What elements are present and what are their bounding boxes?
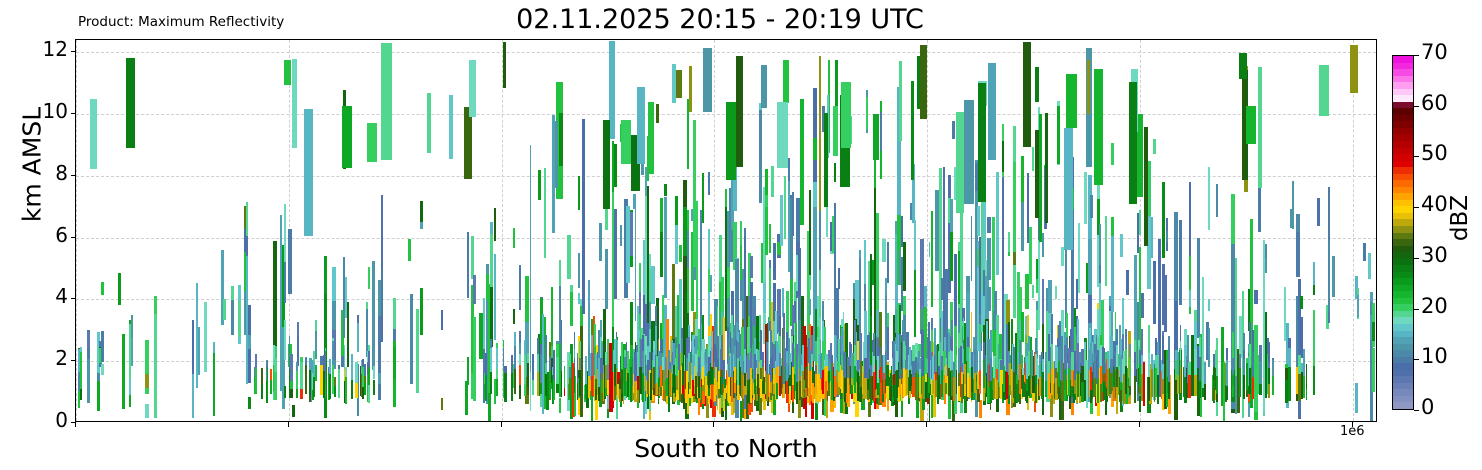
colorbar-band: [1393, 395, 1413, 402]
reflectivity-segment: [90, 99, 98, 169]
reflectivity-column: [274, 39, 276, 421]
reflectivity-segment: [511, 355, 513, 372]
reflectivity-segment: [1157, 355, 1159, 376]
reflectivity-column: [479, 39, 483, 421]
colorbar-band: [1393, 356, 1413, 363]
reflectivity-segment: [496, 379, 499, 395]
reflectivity-column: [1168, 39, 1170, 421]
reflectivity-segment: [1087, 60, 1090, 114]
colorbar-band: [1393, 264, 1413, 271]
reflectivity-column: [1258, 39, 1262, 421]
colorbar-band: [1393, 258, 1413, 265]
reflectivity-column: [1042, 39, 1044, 421]
reflectivity-segment: [1258, 67, 1262, 188]
reflectivity-segment: [1313, 361, 1316, 367]
reflectivity-column: [320, 39, 322, 421]
reflectivity-segment: [1061, 381, 1063, 394]
reflectivity-segment: [569, 367, 571, 378]
reflectivity-column: [1363, 39, 1366, 421]
colorbar-band: [1393, 94, 1413, 101]
reflectivity-segment: [672, 64, 675, 103]
x-tick-mark: [501, 422, 502, 427]
reflectivity-segment: [552, 115, 554, 234]
reflectivity-segment: [514, 369, 516, 394]
reflectivity-segment: [527, 353, 529, 363]
reflectivity-column: [1332, 39, 1336, 421]
reflectivity-segment: [1272, 359, 1274, 375]
reflectivity-column: [609, 39, 615, 421]
reflectivity-segment: [267, 367, 268, 396]
reflectivity-segment: [490, 348, 492, 372]
reflectivity-segment: [532, 354, 534, 380]
y-tick-label: 4: [55, 284, 68, 308]
y-tick-label: 8: [55, 161, 68, 185]
reflectivity-segment: [496, 343, 499, 348]
reflectivity-segment: [911, 81, 915, 181]
reflectivity-segment: [1239, 53, 1246, 79]
reflectivity-segment: [261, 384, 262, 399]
reflectivity-segment: [920, 45, 927, 119]
reflectivity-segment: [1162, 379, 1164, 394]
reflectivity-segment: [1204, 384, 1206, 400]
reflectivity-column: [154, 39, 157, 421]
reflectivity-segment: [1268, 361, 1270, 369]
reflectivity-segment: [1232, 385, 1234, 398]
reflectivity-column: [213, 39, 216, 421]
reflectivity-segment: [559, 113, 562, 165]
reflectivity-segment: [524, 342, 526, 355]
y-tick-label: 6: [55, 223, 68, 247]
reflectivity-segment: [325, 348, 326, 351]
reflectivity-segment: [364, 376, 366, 383]
reflectivity-column: [964, 39, 974, 421]
reflectivity-segment: [1162, 331, 1164, 335]
reflectivity-segment: [248, 397, 251, 409]
reflectivity-segment: [364, 364, 366, 376]
reflectivity-segment: [978, 83, 986, 202]
reflectivity-segment: [935, 372, 937, 381]
reflectivity-segment: [496, 368, 499, 379]
reflectivity-column: [1199, 39, 1201, 421]
reflectivity-segment: [549, 370, 551, 398]
colorbar-tick-mark: [1414, 156, 1419, 157]
reflectivity-column: [1372, 39, 1375, 421]
reflectivity-segment: [255, 354, 257, 369]
colorbar-band: [1393, 304, 1413, 311]
reflectivity-column: [342, 39, 353, 421]
reflectivity-segment: [469, 60, 476, 117]
reflectivity-segment: [503, 42, 505, 88]
reflectivity-column: [1188, 39, 1190, 421]
x-tick-mark: [1139, 422, 1140, 427]
reflectivity-segment: [1268, 368, 1270, 383]
colorbar-band: [1393, 389, 1413, 396]
y-tick-mark: [71, 237, 75, 238]
reflectivity-column: [1013, 39, 1014, 421]
reflectivity-column: [1125, 39, 1127, 421]
reflectivity-column: [524, 39, 526, 421]
colorbar-band: [1393, 245, 1413, 252]
reflectivity-segment: [514, 346, 516, 369]
reflectivity-segment: [420, 201, 422, 223]
reflectivity-segment: [1045, 113, 1048, 223]
reflectivity-segment: [537, 338, 539, 353]
reflectivity-column: [585, 39, 586, 421]
colorbar-band: [1393, 62, 1413, 69]
colorbar-band: [1393, 199, 1413, 206]
reflectivity-column: [496, 39, 499, 421]
reflectivity-column: [1268, 39, 1270, 421]
y-tick-mark: [71, 298, 75, 299]
reflectivity-column: [956, 39, 964, 421]
reflectivity-segment: [248, 335, 251, 350]
x-tick-mark: [926, 422, 927, 427]
reflectivity-segment: [1180, 360, 1181, 368]
reflectivity-column: [1313, 39, 1316, 421]
reflectivity-segment: [519, 385, 522, 400]
reflectivity-segment: [1180, 367, 1181, 393]
reflectivity-segment: [833, 106, 838, 156]
colorbar-tick-label: 40: [1421, 192, 1448, 216]
colorbar-band: [1393, 55, 1413, 62]
reflectivity-segment: [800, 99, 804, 225]
reflectivity-segment: [1137, 114, 1143, 197]
reflectivity-segment: [1296, 340, 1298, 367]
reflectivity-column: [672, 39, 675, 421]
reflectivity-segment: [953, 377, 955, 401]
reflectivity-column: [355, 39, 357, 421]
reflectivity-segment: [621, 120, 631, 164]
reflectivity-segment: [1148, 325, 1150, 353]
reflectivity-segment: [1313, 366, 1316, 394]
reflectivity-segment: [410, 294, 413, 384]
reflectivity-column: [761, 39, 767, 421]
reflectivity-column: [364, 39, 366, 421]
reflectivity-segment: [329, 359, 331, 373]
reflectivity-segment: [1268, 342, 1270, 360]
colorbar-band: [1393, 310, 1413, 317]
reflectivity-column: [648, 39, 654, 421]
reflectivity-column: [145, 39, 148, 421]
reflectivity-segment: [1039, 114, 1042, 242]
y-tick-mark: [71, 113, 75, 114]
reflectivity-column: [90, 39, 98, 421]
reflectivity-segment: [490, 339, 492, 348]
colorbar-tick-mark: [1414, 55, 1419, 56]
colorbar-band: [1393, 232, 1413, 239]
colorbar-band: [1393, 160, 1413, 167]
reflectivity-segment: [1162, 335, 1164, 364]
reflectivity-segment: [364, 383, 366, 395]
reflectivity-segment: [334, 377, 336, 386]
reflectivity-segment: [1042, 372, 1044, 395]
reflectivity-segment: [726, 102, 736, 180]
reflectivity-segment: [1151, 369, 1153, 397]
reflectivity-column: [1319, 39, 1329, 421]
reflectivity-column: [1180, 39, 1181, 421]
reflectivity-segment: [540, 383, 542, 393]
reflectivity-segment: [1288, 367, 1290, 391]
reflectivity-segment: [899, 61, 902, 141]
reflectivity-segment: [585, 356, 586, 385]
reflectivity-segment: [1162, 364, 1164, 378]
reflectivity-segment: [1288, 348, 1290, 366]
reflectivity-segment: [956, 112, 964, 213]
reflectivity-column: [552, 39, 554, 421]
radar-cross-section-figure: 02.11.2025 20:15 - 20:19 UTC Product: Ma…: [0, 0, 1482, 470]
reflectivity-segment: [101, 282, 104, 295]
reflectivity-segment: [1180, 325, 1181, 341]
reflectivity-segment: [192, 320, 194, 374]
reflectivity-column: [1306, 39, 1308, 421]
y-tick-label: 10: [43, 99, 68, 123]
reflectivity-column: [911, 39, 915, 421]
y-tick-mark: [71, 360, 75, 361]
x-tick-mark: [1352, 422, 1353, 427]
reflectivity-segment: [1168, 354, 1170, 383]
reflectivity-column: [367, 39, 377, 421]
reflectivity-segment: [393, 298, 396, 329]
colorbar-band: [1393, 173, 1413, 180]
reflectivity-column: [1296, 39, 1298, 421]
reflectivity-segment: [427, 93, 430, 153]
reflectivity-column: [833, 39, 838, 421]
colorbar-tick-mark: [1414, 106, 1419, 107]
reflectivity-column: [1144, 39, 1147, 421]
reflectivity-segment: [300, 357, 302, 362]
reflectivity-column: [292, 39, 297, 421]
reflectivity-segment: [1363, 243, 1366, 261]
reflectivity-column: [726, 39, 736, 421]
reflectivity-column: [579, 39, 581, 421]
reflectivity-column: [410, 39, 413, 421]
reflectivity-segment: [300, 362, 302, 389]
reflectivity-segment: [320, 356, 322, 366]
reflectivity-segment: [145, 374, 148, 388]
reflectivity-segment: [122, 334, 124, 409]
reflectivity-column: [441, 39, 443, 421]
reflectivity-column: [284, 39, 291, 421]
reflectivity-column: [1285, 39, 1287, 421]
colorbar-band: [1393, 349, 1413, 356]
reflectivity-segment: [101, 364, 104, 376]
reflectivity-column: [540, 39, 542, 421]
reflectivity-column: [569, 39, 571, 421]
reflectivity-column: [1094, 39, 1103, 421]
reflectivity-segment: [292, 59, 297, 148]
colorbar-band: [1393, 277, 1413, 284]
reflectivity-column: [1292, 39, 1294, 421]
product-annotation: Product: Maximum Reflectivity: [78, 14, 284, 30]
colorbar-band: [1393, 271, 1413, 278]
colorbar-band: [1393, 251, 1413, 258]
reflectivity-segment: [824, 113, 828, 208]
reflectivity-column: [393, 39, 396, 421]
colorbar-tick-label: 10: [1421, 344, 1448, 368]
reflectivity-column: [315, 39, 317, 421]
reflectivity-segment: [689, 66, 692, 112]
reflectivity-column: [204, 39, 206, 421]
reflectivity-column: [126, 39, 135, 421]
colorbar-band: [1393, 127, 1413, 134]
reflectivity-segment: [420, 288, 422, 335]
reflectivity-segment: [864, 330, 866, 357]
reflectivity-segment: [1188, 375, 1190, 398]
reflectivity-column: [1288, 39, 1290, 421]
reflectivity-segment: [1232, 358, 1234, 375]
reflectivity-column: [549, 39, 551, 421]
reflectivity-column: [469, 39, 476, 421]
reflectivity-column: [953, 39, 955, 421]
reflectivity-column: [1137, 39, 1143, 421]
reflectivity-segment: [569, 354, 571, 367]
reflectivity-column: [1239, 39, 1246, 421]
reflectivity-segment: [1199, 337, 1201, 347]
reflectivity-column: [978, 39, 986, 421]
reflectivity-segment: [1288, 391, 1290, 400]
reflectivity-segment: [1208, 167, 1210, 229]
reflectivity-segment: [198, 327, 200, 375]
reflectivity-segment: [1157, 342, 1159, 355]
reflectivity-segment: [1303, 376, 1305, 398]
reflectivity-segment: [1061, 336, 1063, 359]
reflectivity-segment: [300, 389, 302, 400]
reflectivity-segment: [154, 314, 157, 418]
reflectivity-segment: [126, 58, 135, 148]
colorbar-band: [1393, 75, 1413, 82]
reflectivity-segment: [1168, 382, 1170, 399]
reflectivity-segment: [334, 386, 336, 398]
reflectivity-column: [490, 39, 492, 421]
reflectivity-segment: [485, 375, 487, 401]
reflectivity-segment: [579, 341, 581, 358]
reflectivity-segment: [1199, 381, 1201, 398]
reflectivity-column: [198, 39, 200, 421]
reflectivity-segment: [1125, 339, 1127, 349]
reflectivity-segment: [1204, 362, 1206, 384]
reflectivity-segment: [261, 368, 262, 383]
reflectivity-segment: [637, 87, 645, 165]
reflectivity-segment: [80, 352, 82, 389]
reflectivity-column: [1129, 39, 1137, 421]
reflectivity-segment: [1226, 360, 1228, 386]
reflectivity-segment: [736, 56, 742, 167]
colorbar-band: [1393, 81, 1413, 88]
x-tick-mark: [713, 422, 714, 427]
reflectivity-segment: [267, 361, 268, 367]
reflectivity-segment: [873, 114, 879, 160]
reflectivity-segment: [284, 60, 291, 85]
colorbar-band: [1393, 238, 1413, 245]
reflectivity-segment: [325, 380, 326, 398]
reflectivity-column: [1061, 39, 1063, 421]
x-axis-label: South to North: [75, 434, 1377, 463]
reflectivity-column: [1204, 39, 1206, 421]
reflectivity-segment: [329, 374, 331, 399]
reflectivity-segment: [1013, 347, 1014, 372]
reflectivity-segment: [841, 82, 851, 148]
colorbar-band: [1393, 323, 1413, 330]
colorbar-band: [1393, 330, 1413, 337]
reflectivity-segment: [325, 351, 326, 380]
reflectivity-segment: [648, 102, 654, 174]
colorbar-band: [1393, 68, 1413, 75]
reflectivity-segment: [1151, 354, 1153, 369]
reflectivity-segment: [1226, 386, 1228, 400]
reflectivity-column: [689, 39, 692, 421]
reflectivity-column: [267, 39, 268, 421]
reflectivity-segment: [524, 340, 526, 342]
reflectivity-column: [527, 39, 529, 421]
reflectivity-segment: [603, 120, 609, 209]
reflectivity-segment: [204, 302, 206, 372]
colorbar-tick-mark: [1414, 309, 1419, 310]
colorbar-band: [1393, 134, 1413, 141]
reflectivity-column: [703, 39, 712, 421]
reflectivity-segment: [441, 398, 443, 410]
reflectivity-segment: [864, 358, 866, 378]
colorbar-band: [1393, 186, 1413, 193]
colorbar-band: [1393, 101, 1413, 108]
colorbar-tick-mark: [1414, 258, 1419, 259]
reflectivity-segment: [441, 310, 443, 330]
reflectivity-column: [559, 39, 562, 421]
reflectivity-column: [485, 39, 487, 421]
reflectivity-column: [118, 39, 121, 421]
reflectivity-segment: [579, 370, 581, 396]
colorbar-band: [1393, 114, 1413, 121]
colorbar-band: [1393, 375, 1413, 382]
reflectivity-column: [304, 39, 313, 421]
reflectivity-column: [1039, 39, 1042, 421]
reflectivity-column: [537, 39, 539, 421]
colorbar-label: dBZ: [1447, 158, 1473, 278]
reflectivity-column: [261, 39, 262, 421]
reflectivity-segment: [569, 378, 571, 395]
reflectivity-column: [841, 39, 851, 421]
reflectivity-segment: [1332, 256, 1336, 298]
reflectivity-column: [800, 39, 804, 421]
reflectivity-segment: [564, 388, 566, 395]
colorbar-band: [1393, 369, 1413, 376]
reflectivity-segment: [549, 357, 551, 370]
reflectivity-segment: [393, 347, 396, 379]
reflectivity-segment: [274, 358, 276, 372]
reflectivity-column: [80, 39, 82, 421]
reflectivity-segment: [1180, 341, 1181, 360]
y-tick-mark: [71, 51, 75, 52]
reflectivity-column: [920, 39, 927, 421]
reflectivity-segment: [1066, 74, 1076, 129]
reflectivity-segment: [1125, 349, 1127, 365]
reflectivity-column: [1045, 39, 1048, 421]
reflectivity-column: [416, 39, 418, 421]
reflectivity-column: [532, 39, 534, 421]
reflectivity-segment: [524, 355, 526, 384]
reflectivity-column: [1162, 39, 1164, 421]
reflectivity-segment: [1306, 364, 1308, 388]
y-tick-label: 2: [55, 346, 68, 370]
reflectivity-segment: [342, 106, 353, 168]
reflectivity-segment: [1296, 367, 1298, 394]
reflectivity-segment: [449, 95, 453, 159]
reflectivity-segment: [1013, 372, 1014, 398]
reflectivity-segment: [1303, 349, 1305, 363]
reflectivity-column: [1216, 39, 1218, 421]
reflectivity-segment: [1319, 65, 1329, 116]
reflectivity-column: [574, 39, 576, 421]
colorbar-band: [1393, 179, 1413, 186]
